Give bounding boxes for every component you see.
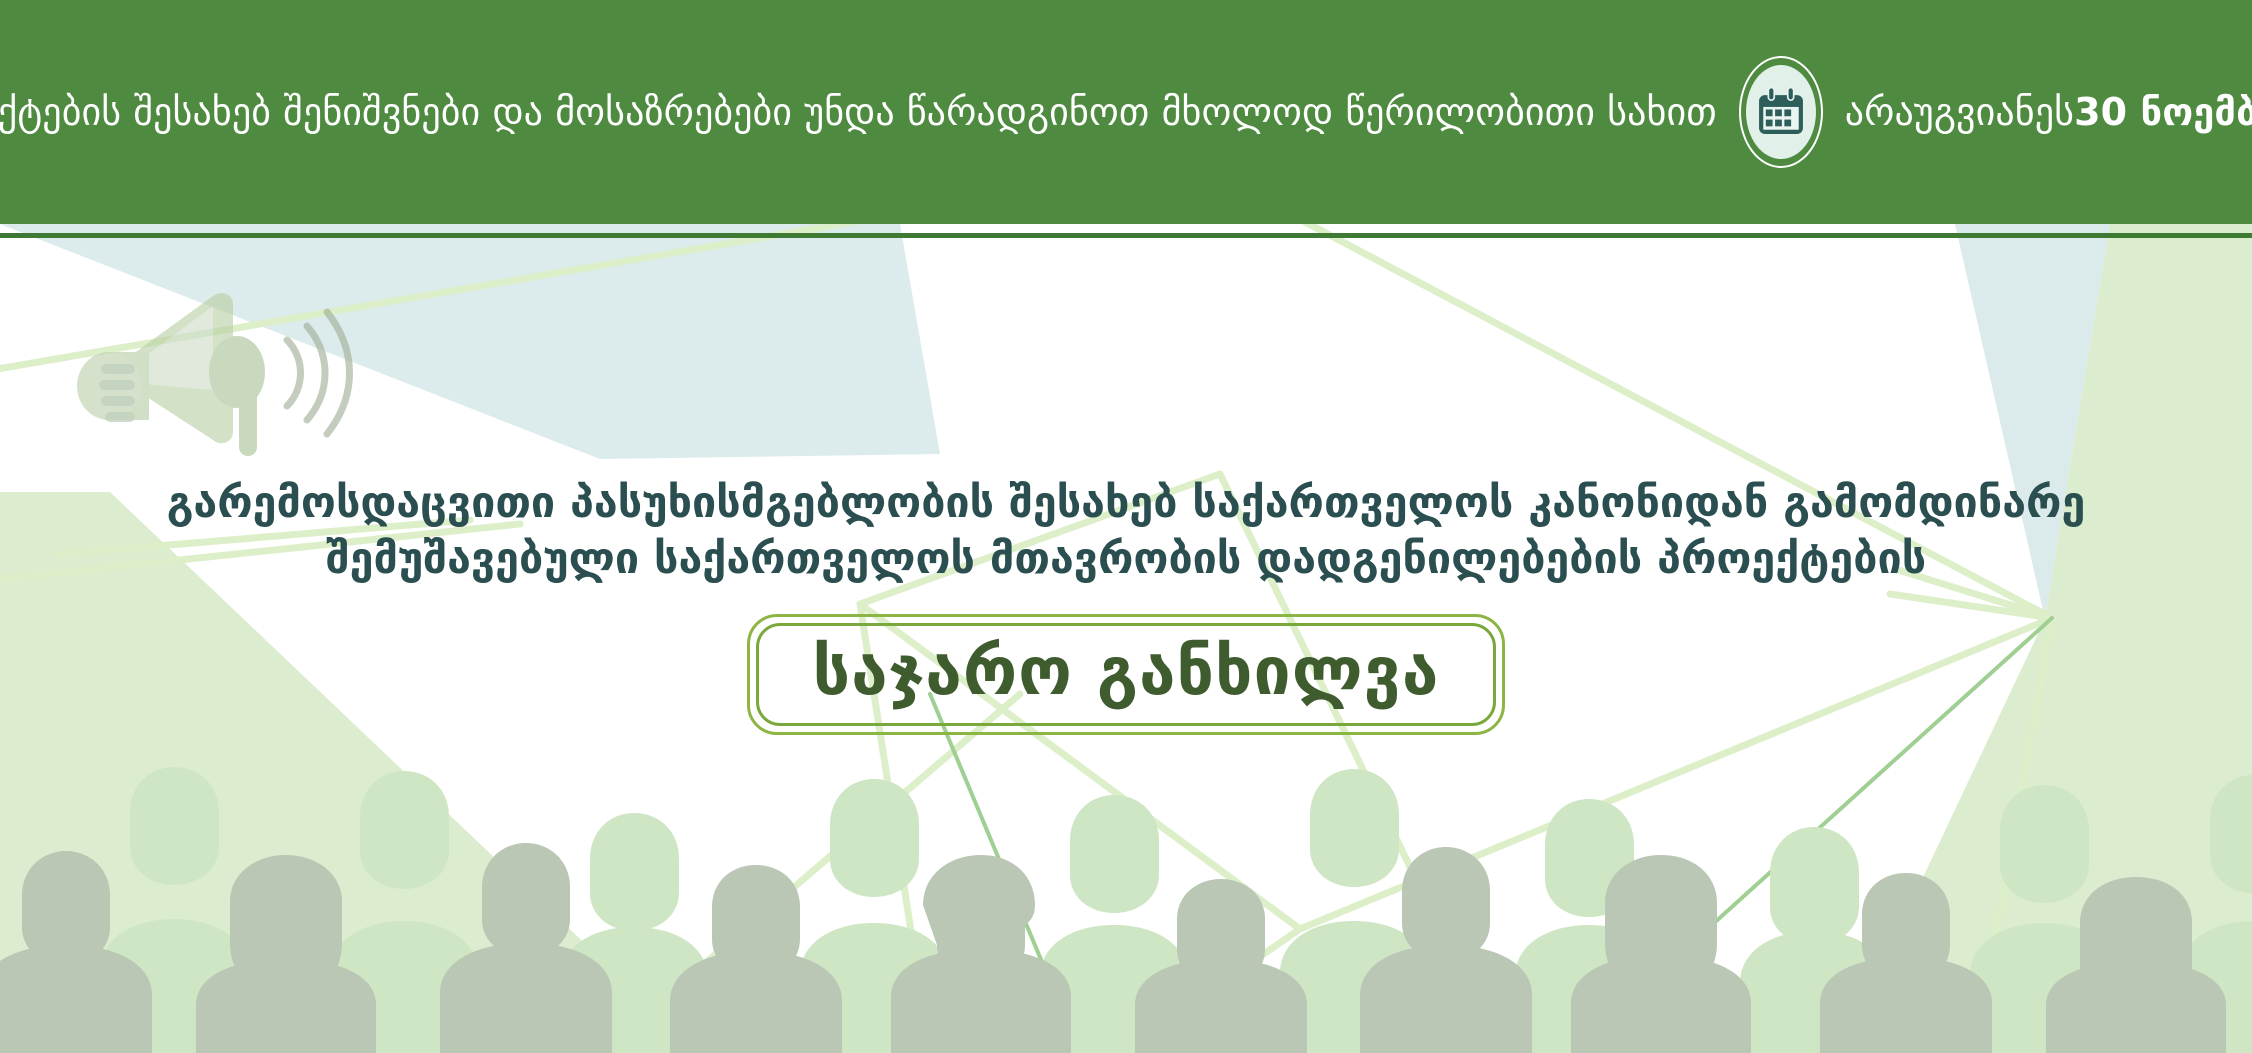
badge-inner-border: საჯარო განხილვა [756, 623, 1497, 726]
title-block: გარემოსდაცვითი პასუხისმგებლობის შესახებ … [0, 476, 2252, 588]
badge-outer-border: საჯარო განხილვა [747, 614, 1506, 735]
header-inner: პროექტების შესახებ შენიშვნები და მოსაზრე… [0, 56, 2252, 168]
calendar-icon [1739, 56, 1823, 168]
page-title-line-1: გარემოსდაცვითი პასუხისმგებლობის შესახებ … [0, 476, 2252, 532]
megaphone-icon [55, 272, 373, 472]
header-bar: პროექტების შესახებ შენიშვნები და მოსაზრე… [0, 0, 2252, 224]
header-notice-prefix: პროექტების შესახებ შენიშვნები და მოსაზრე… [0, 93, 1717, 131]
page-title-line-2: შემუშავებული საქართველოს მთავრობის დადგე… [0, 532, 2252, 588]
badge-wrap: საჯარო განხილვა [0, 614, 2252, 735]
public-hearing-badge-label: საჯარო განხილვა [813, 636, 1440, 707]
header-notice-middle: არაუგვიანეს [1845, 93, 2074, 131]
public-hearing-banner: პროექტების შესახებ შენიშვნები და მოსაზრე… [0, 0, 2252, 1053]
header-divider-rule [0, 233, 2252, 238]
header-deadline-date: 30 ნოემბრისა [2074, 93, 2252, 131]
crowd-silhouettes [0, 753, 2252, 1053]
